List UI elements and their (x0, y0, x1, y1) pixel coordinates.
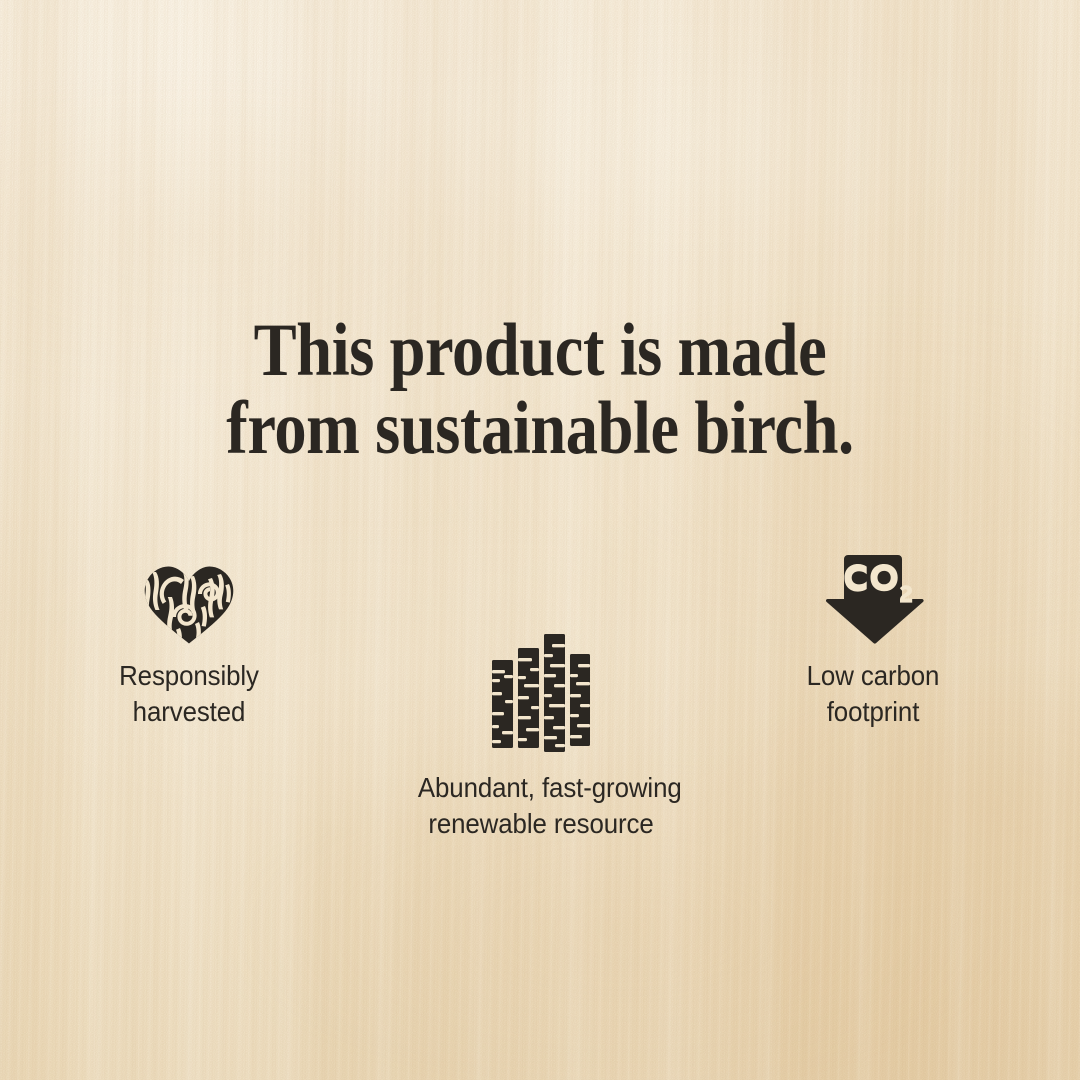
caption-line-1: Abundant, fast-growing (418, 770, 664, 806)
wood-speckle-texture (0, 0, 1080, 1080)
feature-icon-slot (410, 630, 672, 752)
birch-trunks-icon (490, 630, 592, 752)
caption-line-2: renewable resource (418, 806, 664, 842)
caption-line-2: footprint (750, 694, 996, 730)
caption-line-2: harvested (66, 694, 312, 730)
feature-icon-slot (742, 552, 1004, 644)
headline-line-2: from sustainable birch. (76, 390, 1005, 468)
co2-down-arrow-icon (820, 554, 926, 644)
headline-line-1: This product is made (76, 312, 1005, 390)
page-title: This product is made from sustainable bi… (76, 312, 1005, 468)
feature-icon-slot (58, 552, 320, 644)
feature-renewable-resource: Abundant, fast-growing renewable resourc… (410, 630, 672, 842)
feature-responsibly-harvested: Responsibly harvested (58, 552, 320, 730)
feature-caption: Low carbon footprint (750, 658, 996, 730)
feature-caption: Abundant, fast-growing renewable resourc… (418, 770, 664, 842)
feature-caption: Responsibly harvested (66, 658, 312, 730)
caption-line-1: Responsibly (66, 658, 312, 694)
wood-grain-heart-icon (142, 562, 236, 644)
sustainability-panel: This product is made from sustainable bi… (0, 0, 1080, 1080)
caption-line-1: Low carbon (750, 658, 996, 694)
feature-low-carbon-footprint: Low carbon footprint (742, 552, 1004, 730)
